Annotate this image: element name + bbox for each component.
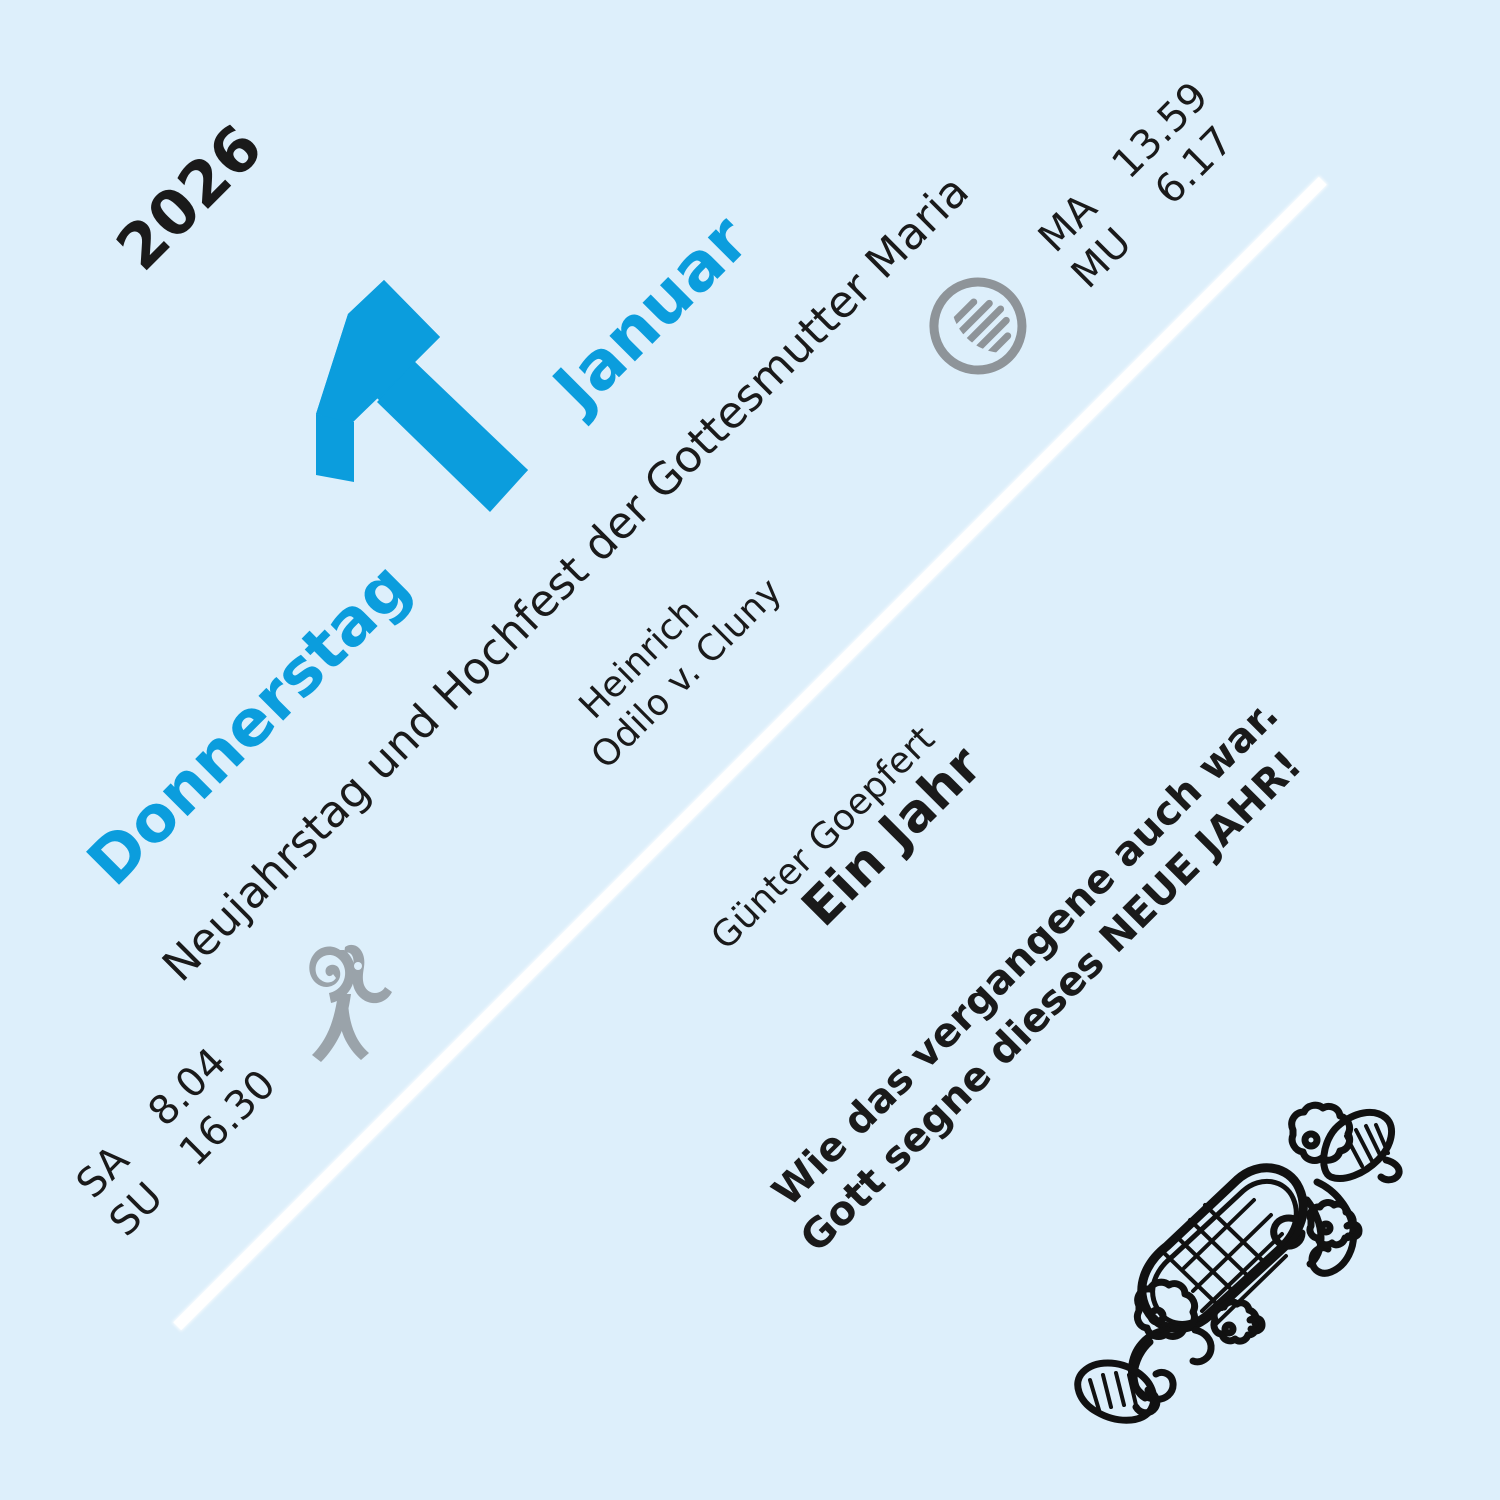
year-label: 2026 <box>102 110 276 284</box>
day-number-1 <box>272 262 562 532</box>
capricorn-zodiac-icon <box>282 936 402 1066</box>
folk-heart-ornament-icon <box>1055 1030 1435 1430</box>
calendar-page: 2026 Januar Neujahrstag und Hochfest der… <box>0 0 1500 1500</box>
moon-phase-icon <box>928 276 1028 376</box>
weekday-label: Donnerstag <box>74 549 425 900</box>
